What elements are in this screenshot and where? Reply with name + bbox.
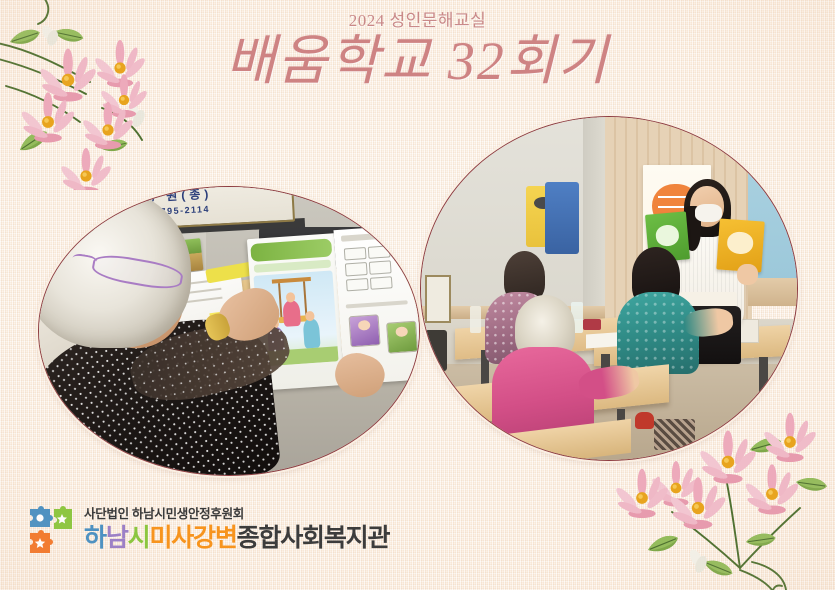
org-association-name: 사단법인 하남시민생안정후원회 bbox=[84, 503, 389, 522]
left-photo-scene: 병 원(종) 031)795-2114 bbox=[39, 187, 419, 475]
red-case bbox=[583, 319, 602, 329]
puzzle-logo-icon bbox=[28, 505, 78, 557]
right-photo bbox=[420, 116, 798, 461]
org-brand-name: 하남시미사강변종합사회복지관 bbox=[84, 523, 389, 553]
student2-top bbox=[617, 292, 700, 374]
organization-logo: 사단법인 하남시민생안정후원회 하남시미사강변종합사회복지관 bbox=[28, 503, 448, 561]
brand-char-ha: 하 bbox=[84, 524, 106, 552]
exercise-picture-2 bbox=[386, 321, 418, 354]
logo-text-block: 사단법인 하남시민생안정후원회 하남시미사강변종합사회복지관 bbox=[84, 503, 389, 553]
water-bottle-2 bbox=[470, 306, 481, 333]
workbook-header-band bbox=[250, 238, 331, 262]
exercise-picture-1 bbox=[348, 314, 380, 347]
page-title: 배움학교 32회기 bbox=[0, 30, 835, 92]
right-photo-scene bbox=[421, 117, 797, 460]
face-mask bbox=[695, 204, 721, 221]
blue-wall-hanging bbox=[545, 182, 579, 254]
poster-subtitle: 2024 성인문해교실 bbox=[0, 6, 835, 31]
poster-canvas: 병 원(종) 031)795-2114 bbox=[0, 0, 835, 590]
dark-object bbox=[425, 330, 448, 371]
exercise-title bbox=[341, 232, 394, 241]
exercise-subtitle bbox=[346, 300, 407, 309]
page-corner-tab bbox=[416, 264, 420, 275]
instructor-hand-right bbox=[737, 264, 758, 285]
brand-char-si: 시 bbox=[128, 524, 150, 552]
patterned-bag bbox=[654, 419, 695, 450]
exercise-grid bbox=[344, 243, 417, 294]
left-photo: 병 원(종) 031)795-2114 bbox=[38, 186, 420, 476]
wall-trim-right bbox=[748, 278, 797, 305]
red-shoe bbox=[635, 412, 654, 429]
brand-char-nam: 남 bbox=[106, 524, 128, 552]
brand-word-misa: 미사강변 bbox=[149, 524, 236, 552]
brand-word-rest: 종합사회복지관 bbox=[237, 524, 390, 552]
wall-frame bbox=[425, 275, 451, 323]
